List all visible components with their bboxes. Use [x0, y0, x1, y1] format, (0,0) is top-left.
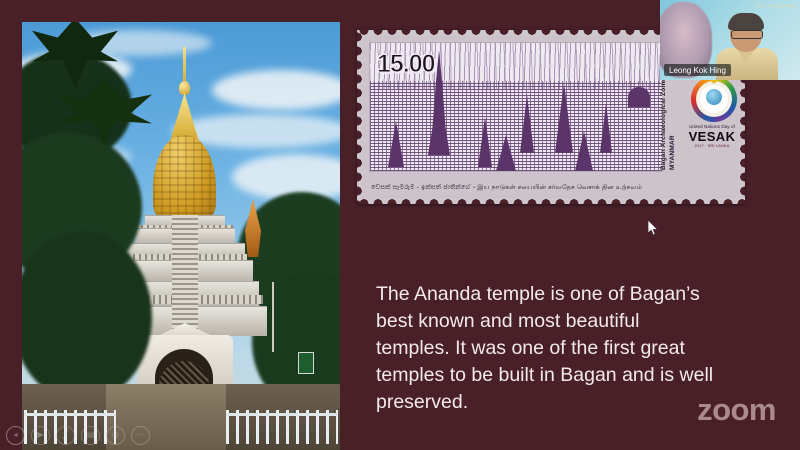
participant-name-label: Leong Kok Hing [664, 64, 731, 76]
collapse-toolbar-button[interactable]: ◂ [6, 426, 25, 445]
central-staircase [172, 215, 198, 339]
railing-top-bar [226, 413, 338, 416]
participant-video-thumbnail[interactable]: 博士 Photo Hoong Sithole Leong Kok Hing [660, 0, 800, 80]
emblem-title: VESAK [681, 129, 743, 144]
slide-body-text: The Ananda temple is one of Bagan’s best… [376, 281, 716, 416]
annotate-pen-button[interactable]: ╱ [56, 426, 75, 445]
zoom-screenshare-slide: 15.00 Bagan Archaeological Zone MYANMAR … [0, 0, 800, 450]
vesak-emblem [691, 76, 737, 122]
stamp-perforation-bottom [357, 199, 745, 204]
railing-top-bar [24, 413, 116, 416]
stamp-perforation-left [357, 30, 362, 204]
ananda-temple-photo [22, 22, 340, 450]
spotlight-tool-button[interactable]: ◎ [106, 426, 125, 445]
annotation-toolbar[interactable]: ◂ ▶ ╱ ▤ ◎ ··· [6, 424, 150, 446]
green-signboard [298, 352, 314, 374]
more-options-button[interactable]: ··· [131, 426, 150, 445]
mouse-cursor [648, 220, 659, 236]
engraved-hill [628, 87, 650, 107]
engraved-plain [370, 81, 662, 171]
lamp-post [272, 282, 274, 352]
stamp-caption: වෙසක් සැමරුම - ඉක්සත් ජාතීන්ගේ ං இய நாடு… [371, 184, 733, 192]
participant-hair [728, 13, 764, 30]
emblem-date: 2017 · SRI LANKA [681, 143, 743, 148]
stamp-denomination: 15.00 [377, 50, 435, 79]
golden-sikhara [153, 135, 216, 221]
participant-glasses [731, 30, 763, 39]
pointer-tool-button[interactable]: ▶ [31, 426, 50, 445]
emblem-globe [706, 89, 722, 105]
stamp-tool-button[interactable]: ▤ [81, 426, 100, 445]
zoom-logo-watermark: zoom [697, 392, 776, 428]
video-watermark: 博士 Photo Hoong Sithole [756, 4, 795, 9]
spire-orb [179, 81, 190, 95]
